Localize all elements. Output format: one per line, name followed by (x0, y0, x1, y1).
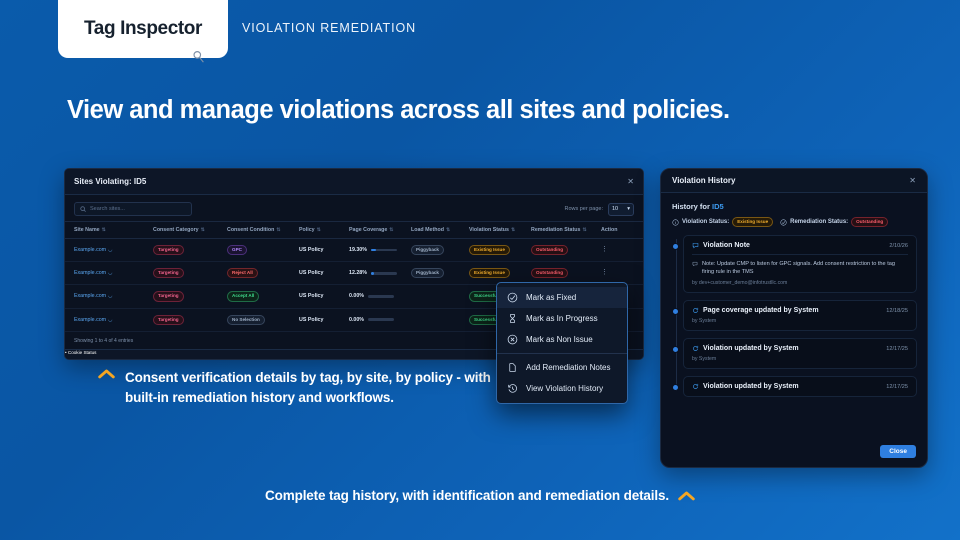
menu-label: Mark as In Progress (526, 314, 598, 323)
right-window-titlebar: Violation History ✕ (661, 169, 927, 193)
col-consent-category[interactable]: Consent Category⇅ (153, 222, 227, 239)
chevron-up-icon (678, 490, 695, 501)
close-button-wrap: Close (880, 440, 916, 458)
history-for: History for ID5 (672, 202, 916, 211)
close-icon[interactable]: ✕ (627, 177, 634, 186)
cell-load-method (411, 308, 469, 331)
cell-consent-category: Targeting (153, 308, 227, 331)
entry-title: Violation Note (703, 242, 750, 249)
violation-status-label: Violation Status: (682, 219, 729, 225)
note-add-icon (507, 362, 518, 373)
check-circle-icon (780, 219, 787, 226)
cell-policy: US Policy (299, 239, 349, 262)
cell-load-method: Piggyback (411, 239, 469, 262)
refresh-icon (692, 383, 699, 390)
menu-label: Add Remediation Notes (526, 363, 611, 372)
entry-title: Page coverage updated by System (703, 307, 819, 314)
history-header: History for ID5 Violation Status: Existi… (661, 193, 927, 227)
entry-date: 12/18/25 (886, 308, 908, 314)
page-title: View and manage violations across all si… (67, 96, 730, 125)
timeline-card: Page coverage updated by System12/18/25b… (683, 300, 917, 331)
timeline-line (676, 239, 677, 391)
check-circle-icon (507, 292, 518, 303)
rows-per-page-value: 10 (612, 206, 618, 212)
chevron-down-icon: ▾ (627, 206, 630, 212)
kebab-menu-icon: ⋮ (601, 269, 608, 276)
remediation-status-badge: Outstanding (851, 217, 888, 227)
external-link-icon: ◡ (108, 293, 112, 299)
cell-page-coverage: 0.00% (349, 285, 411, 308)
entry-author: by System (692, 356, 908, 362)
cell-consent-condition: No Selection (227, 308, 299, 331)
menu-divider (497, 353, 627, 354)
logo-text: Tag Inspector (84, 18, 202, 40)
external-link-icon: ◡ (108, 247, 112, 253)
cell-consent-category: Targeting (153, 239, 227, 262)
table-header-row: Site Name⇅ Consent Category⇅ Consent Con… (65, 222, 643, 239)
timeline-entry: Violation updated by System12/17/25 (683, 376, 917, 397)
history-for-label: History for (672, 202, 710, 211)
cell-page-coverage: 0.00% (349, 308, 411, 331)
entry-date: 12/17/25 (886, 346, 908, 352)
caption-bottom-text: Complete tag history, with identificatio… (265, 488, 669, 503)
timeline-entry: Page coverage updated by System12/18/25b… (683, 300, 917, 331)
timeline-card: Violation updated by System12/17/25 (683, 376, 917, 397)
right-window-title: Violation History (672, 176, 735, 185)
cell-site-name[interactable]: Example.com◡ (65, 239, 153, 262)
search-icon (80, 206, 86, 212)
entry-title: Violation updated by System (703, 383, 799, 390)
menu-label: Mark as Fixed (526, 293, 576, 302)
status-row: Violation Status: Existing Issue Remedia… (672, 217, 916, 227)
cell-policy: US Policy (299, 262, 349, 285)
cell-site-name[interactable]: Example.com◡ (65, 308, 153, 331)
remediation-status-group: Remediation Status: Outstanding (780, 217, 888, 227)
cell-policy: US Policy (299, 285, 349, 308)
comment-icon (692, 261, 698, 267)
caption-bottom: Complete tag history, with identificatio… (0, 488, 960, 503)
cell-load-method (411, 285, 469, 308)
logo-plate: Tag Inspector (58, 0, 228, 58)
violation-status-badge: Existing Issue (732, 217, 773, 227)
col-action: Action (601, 222, 643, 239)
refresh-icon (692, 345, 699, 352)
timeline-entry: Violation Note2/10/26Note: Update CMP to… (683, 235, 917, 293)
cell-consent-condition: Accept All (227, 285, 299, 308)
caption-left: Consent verification details by tag, by … (98, 368, 498, 407)
menu-label: Mark as Non Issue (526, 335, 593, 344)
rows-per-page-control: Rows per page: 10 ▾ (564, 203, 634, 216)
col-violation-status[interactable]: Violation Status⇅ (469, 222, 531, 239)
menu-item-view-violation-history[interactable]: View Violation History (497, 378, 627, 399)
menu-item-mark-as-non-issue[interactable]: Mark as Non Issue (497, 329, 627, 350)
close-icon[interactable]: ✕ (909, 176, 916, 185)
external-link-icon: ◡ (108, 317, 112, 323)
cell-consent-condition: Reject All (227, 262, 299, 285)
refresh-icon (692, 307, 699, 314)
kebab-menu-icon: ⋮ (601, 246, 608, 253)
entry-date: 2/10/26 (889, 243, 908, 249)
remediation-status-label: Remediation Status: (790, 219, 848, 225)
hourglass-icon (507, 313, 518, 324)
close-button[interactable]: Close (880, 445, 916, 458)
cell-policy: US Policy (299, 308, 349, 331)
cell-site-name[interactable]: Example.com◡ (65, 262, 153, 285)
col-page-coverage[interactable]: Page Coverage⇅ (349, 222, 411, 239)
entry-author: by System (692, 318, 908, 324)
x-circle-icon (507, 334, 518, 345)
cell-page-coverage: 19.30% (349, 239, 411, 262)
timeline-dot (672, 308, 679, 315)
rows-per-page-select[interactable]: 10 ▾ (608, 203, 634, 216)
cell-remediation-status: Outstanding (531, 239, 601, 262)
timeline-dot (672, 243, 679, 250)
entry-author: by dev+customer_demo@infotrustllc.com (692, 280, 908, 286)
entry-title: Violation updated by System (703, 345, 799, 352)
cell-site-name[interactable]: Example.com◡ (65, 285, 153, 308)
chevron-up-icon (98, 368, 115, 379)
cell-page-coverage: 12.28% (349, 262, 411, 285)
timeline-dot (672, 346, 679, 353)
info-circle-icon (672, 219, 679, 226)
cell-consent-category: Targeting (153, 285, 227, 308)
menu-item-mark-as-in-progress[interactable]: Mark as In Progress (497, 308, 627, 329)
entry-note: Note: Update CMP to listen for GPC signa… (692, 254, 908, 276)
col-consent-condition[interactable]: Consent Condition⇅ (227, 222, 299, 239)
cell-action[interactable]: ⋮ (601, 239, 643, 262)
comment-icon (692, 242, 699, 249)
table-toolbar: Search sites... Rows per page: 10 ▾ (65, 195, 643, 221)
col-load-method[interactable]: Load Method⇅ (411, 222, 469, 239)
search-placeholder: Search sites... (90, 206, 125, 212)
timeline-card: Violation updated by System12/17/25by Sy… (683, 338, 917, 369)
timeline-dot (672, 384, 679, 391)
col-remediation-status[interactable]: Remediation Status⇅ (531, 222, 601, 239)
violation-history-window: Violation History ✕ History for ID5 Viol… (660, 168, 928, 468)
search-input[interactable]: Search sites... (74, 202, 192, 216)
history-timeline: Violation Note2/10/26Note: Update CMP to… (661, 235, 927, 397)
history-icon (507, 383, 518, 394)
timeline-card: Violation Note2/10/26Note: Update CMP to… (683, 235, 917, 293)
table-row[interactable]: Example.com◡TargetingGPCUS Policy19.30%P… (65, 239, 643, 262)
cell-violation-status: Existing Issue (469, 239, 531, 262)
magnifier-icon (192, 50, 205, 63)
menu-label: View Violation History (526, 384, 603, 393)
violation-status-group: Violation Status: Existing Issue (672, 217, 773, 227)
external-link-icon: ◡ (108, 270, 112, 276)
cell-load-method: Piggyback (411, 262, 469, 285)
cell-consent-condition: GPC (227, 239, 299, 262)
left-window-title: Sites Violating: ID5 (74, 177, 146, 186)
menu-item-mark-as-fixed[interactable]: Mark as Fixed (497, 287, 627, 308)
caption-left-text: Consent verification details by tag, by … (125, 368, 498, 407)
row-actions-context-menu: Mark as Fixed Mark as In Progress Mark a… (496, 282, 628, 404)
cell-consent-category: Targeting (153, 262, 227, 285)
col-site-name[interactable]: Site Name⇅ (65, 222, 153, 239)
rows-per-page-label: Rows per page: (564, 206, 603, 212)
timeline-entry: Violation updated by System12/17/25by Sy… (683, 338, 917, 369)
history-for-value: ID5 (712, 202, 724, 211)
entry-date: 12/17/25 (886, 384, 908, 390)
page-kicker: VIOLATION REMEDIATION (242, 21, 416, 35)
menu-item-add-remediation-notes[interactable]: Add Remediation Notes (497, 357, 627, 378)
col-policy[interactable]: Policy⇅ (299, 222, 349, 239)
left-window-titlebar: Sites Violating: ID5 ✕ (65, 169, 643, 195)
